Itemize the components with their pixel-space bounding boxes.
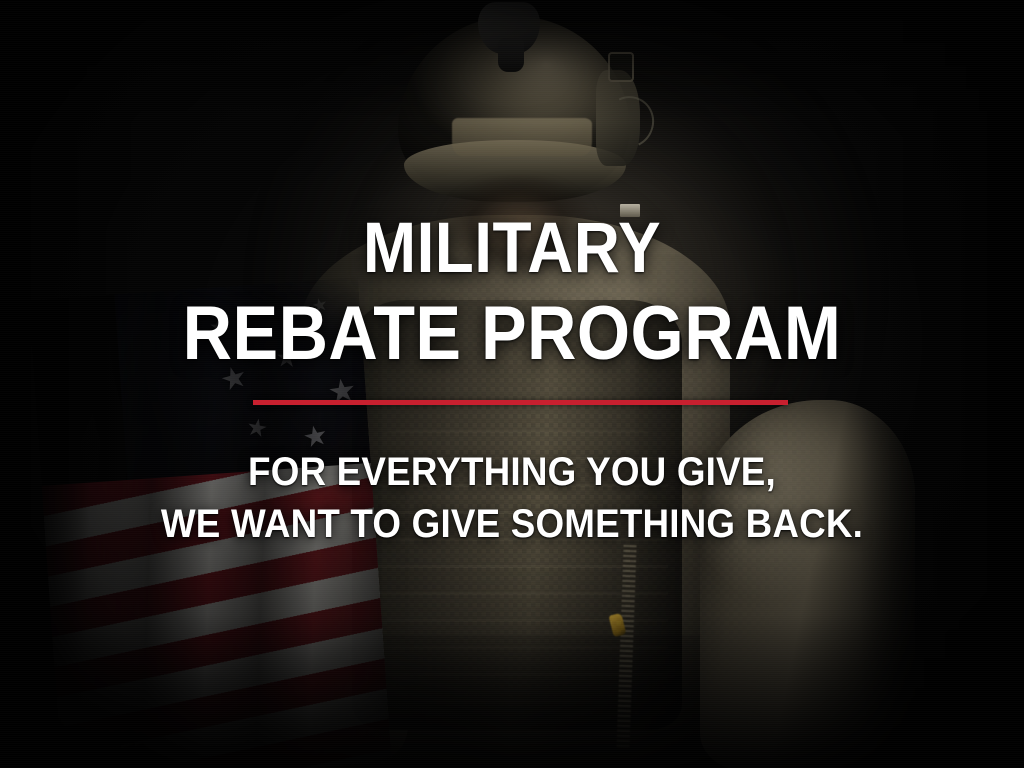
military-rebate-poster: ★★★★★★★★★★ MILITARY REBATE PROGRAM FOR E… — [0, 0, 1024, 768]
background-photo: ★★★★★★★★★★ — [0, 0, 1024, 768]
american-flag: ★★★★★★★★★★ — [29, 277, 392, 768]
flag-dimming-overlay — [29, 277, 392, 768]
